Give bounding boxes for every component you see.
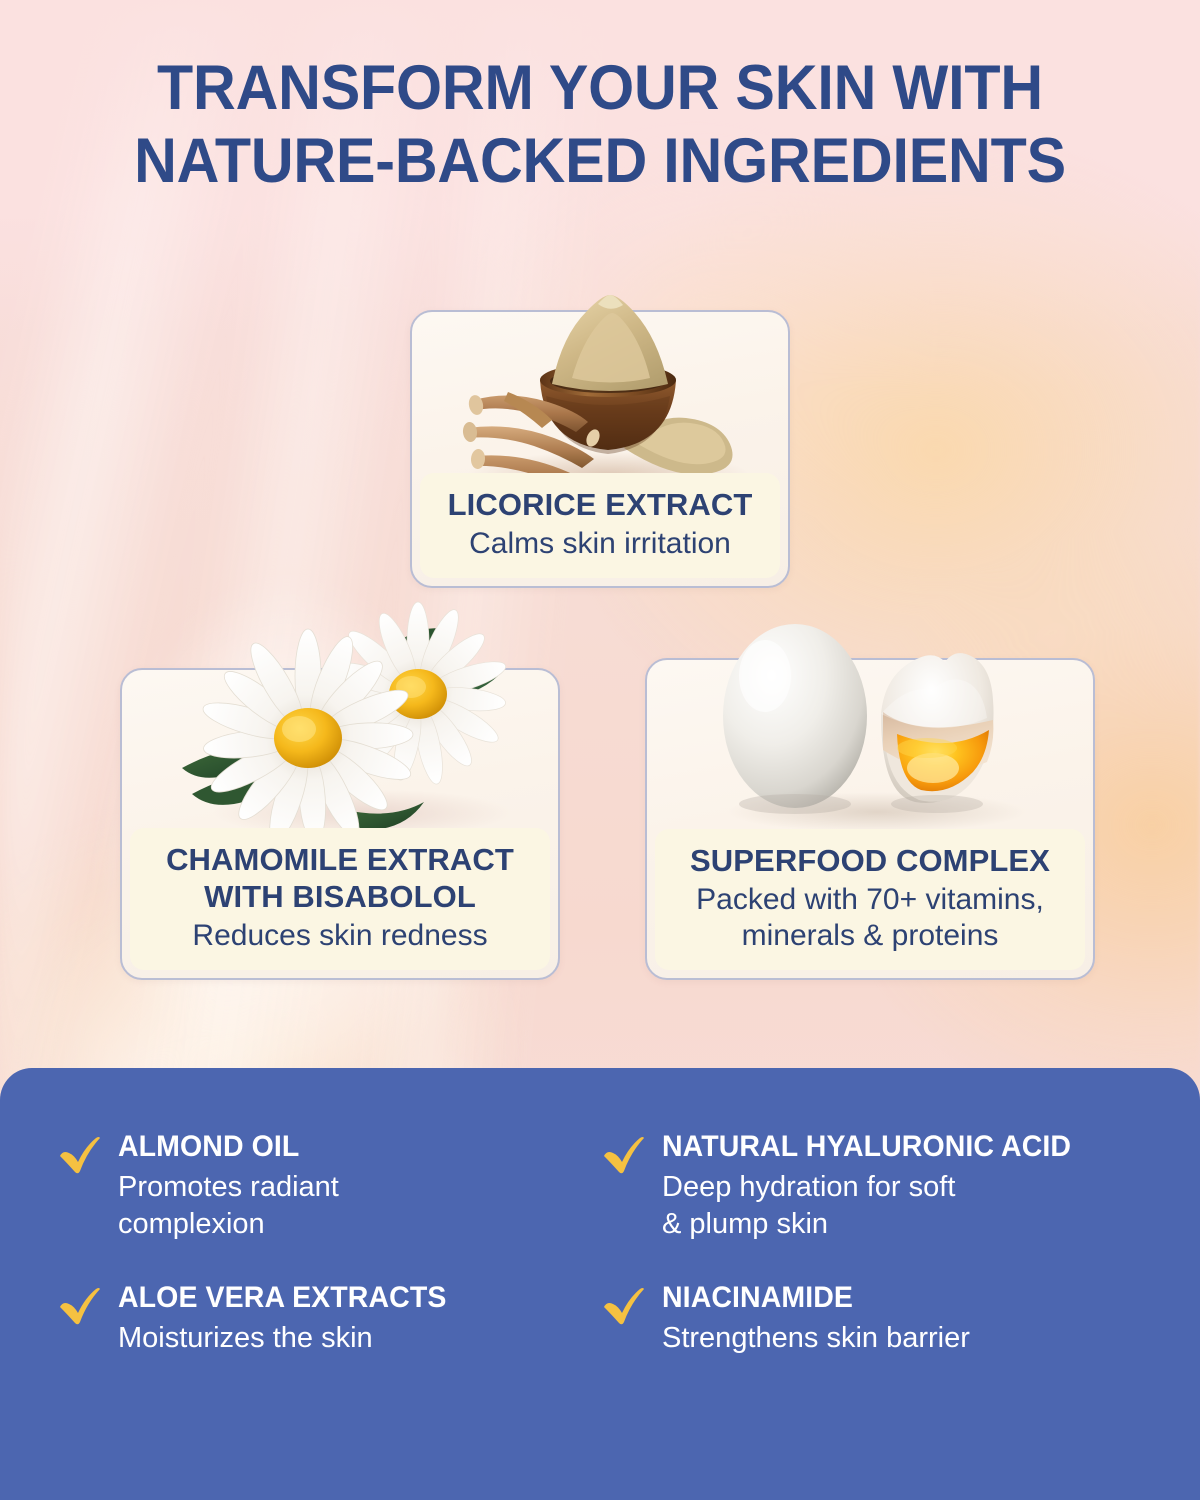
card-label-superfood: SUPERFOOD COMPLEX Packed with 70+ vitami… bbox=[655, 829, 1085, 970]
benefit-item-niacinamide: NIACINAMIDE Strengthens skin barrier bbox=[600, 1281, 1160, 1357]
card-label-licorice: LICORICE EXTRACT Calms skin irritation bbox=[420, 473, 780, 578]
benefit-item-hyaluronic-acid: NATURAL HYALURONIC ACID Deep hydration f… bbox=[600, 1130, 1160, 1243]
benefit-item-aloe-vera: ALOE VERA EXTRACTS Moisturizes the skin bbox=[56, 1281, 586, 1357]
card-title-chamomile: CHAMOMILE EXTRACT WITH BISABOLOL bbox=[140, 842, 540, 915]
benefit-desc-aloe-vera: Moisturizes the skin bbox=[118, 1320, 464, 1357]
check-icon bbox=[56, 1283, 102, 1329]
chamomile-flowers-photo bbox=[122, 598, 558, 858]
card-subtitle-chamomile: Reduces skin redness bbox=[140, 918, 540, 954]
benefit-desc-niacinamide: Strengthens skin barrier bbox=[662, 1320, 970, 1357]
check-icon bbox=[600, 1283, 646, 1329]
benefit-text-hyaluronic-acid: NATURAL HYALURONIC ACID Deep hydration f… bbox=[662, 1130, 1093, 1243]
card-title-superfood: SUPERFOOD COMPLEX bbox=[665, 843, 1075, 879]
card-subtitle-superfood: Packed with 70+ vitamins, minerals & pro… bbox=[665, 882, 1075, 954]
benefit-title-niacinamide: NIACINAMIDE bbox=[662, 1281, 954, 1314]
page-title: TRANSFORM YOUR SKIN WITH NATURE-BACKED I… bbox=[36, 52, 1164, 198]
benefit-item-almond-oil: ALMOND OIL Promotes radiant complexion bbox=[56, 1130, 586, 1243]
ingredient-card-licorice: LICORICE EXTRACT Calms skin irritation bbox=[410, 310, 790, 588]
benefit-text-niacinamide: NIACINAMIDE Strengthens skin barrier bbox=[662, 1281, 970, 1357]
card-subtitle-licorice: Calms skin irritation bbox=[430, 526, 770, 562]
benefit-desc-hyaluronic-acid: Deep hydration for soft & plump skin bbox=[662, 1169, 1093, 1243]
benefit-text-almond-oil: ALMOND OIL Promotes radiant complexion bbox=[118, 1130, 339, 1243]
ingredient-card-superfood: SUPERFOOD COMPLEX Packed with 70+ vitami… bbox=[645, 658, 1095, 980]
benefit-text-aloe-vera: ALOE VERA EXTRACTS Moisturizes the skin bbox=[118, 1281, 464, 1357]
card-title-licorice: LICORICE EXTRACT bbox=[430, 487, 770, 523]
benefit-title-hyaluronic-acid: NATURAL HYALURONIC ACID bbox=[662, 1130, 1071, 1163]
ingredient-infographic: TRANSFORM YOUR SKIN WITH NATURE-BACKED I… bbox=[0, 0, 1200, 1500]
benefit-title-aloe-vera: ALOE VERA EXTRACTS bbox=[118, 1281, 446, 1314]
benefits-grid: ALMOND OIL Promotes radiant complexion N… bbox=[56, 1130, 1160, 1357]
benefit-title-almond-oil: ALMOND OIL bbox=[118, 1130, 328, 1163]
check-icon bbox=[600, 1132, 646, 1178]
check-icon bbox=[56, 1132, 102, 1178]
benefits-panel: ALMOND OIL Promotes radiant complexion N… bbox=[0, 1068, 1200, 1500]
benefit-desc-almond-oil: Promotes radiant complexion bbox=[118, 1169, 339, 1243]
egg-and-yolk-photo bbox=[647, 598, 1093, 848]
card-label-chamomile: CHAMOMILE EXTRACT WITH BISABOLOL Reduces… bbox=[130, 828, 550, 970]
ingredient-card-chamomile: CHAMOMILE EXTRACT WITH BISABOLOL Reduces… bbox=[120, 668, 560, 980]
